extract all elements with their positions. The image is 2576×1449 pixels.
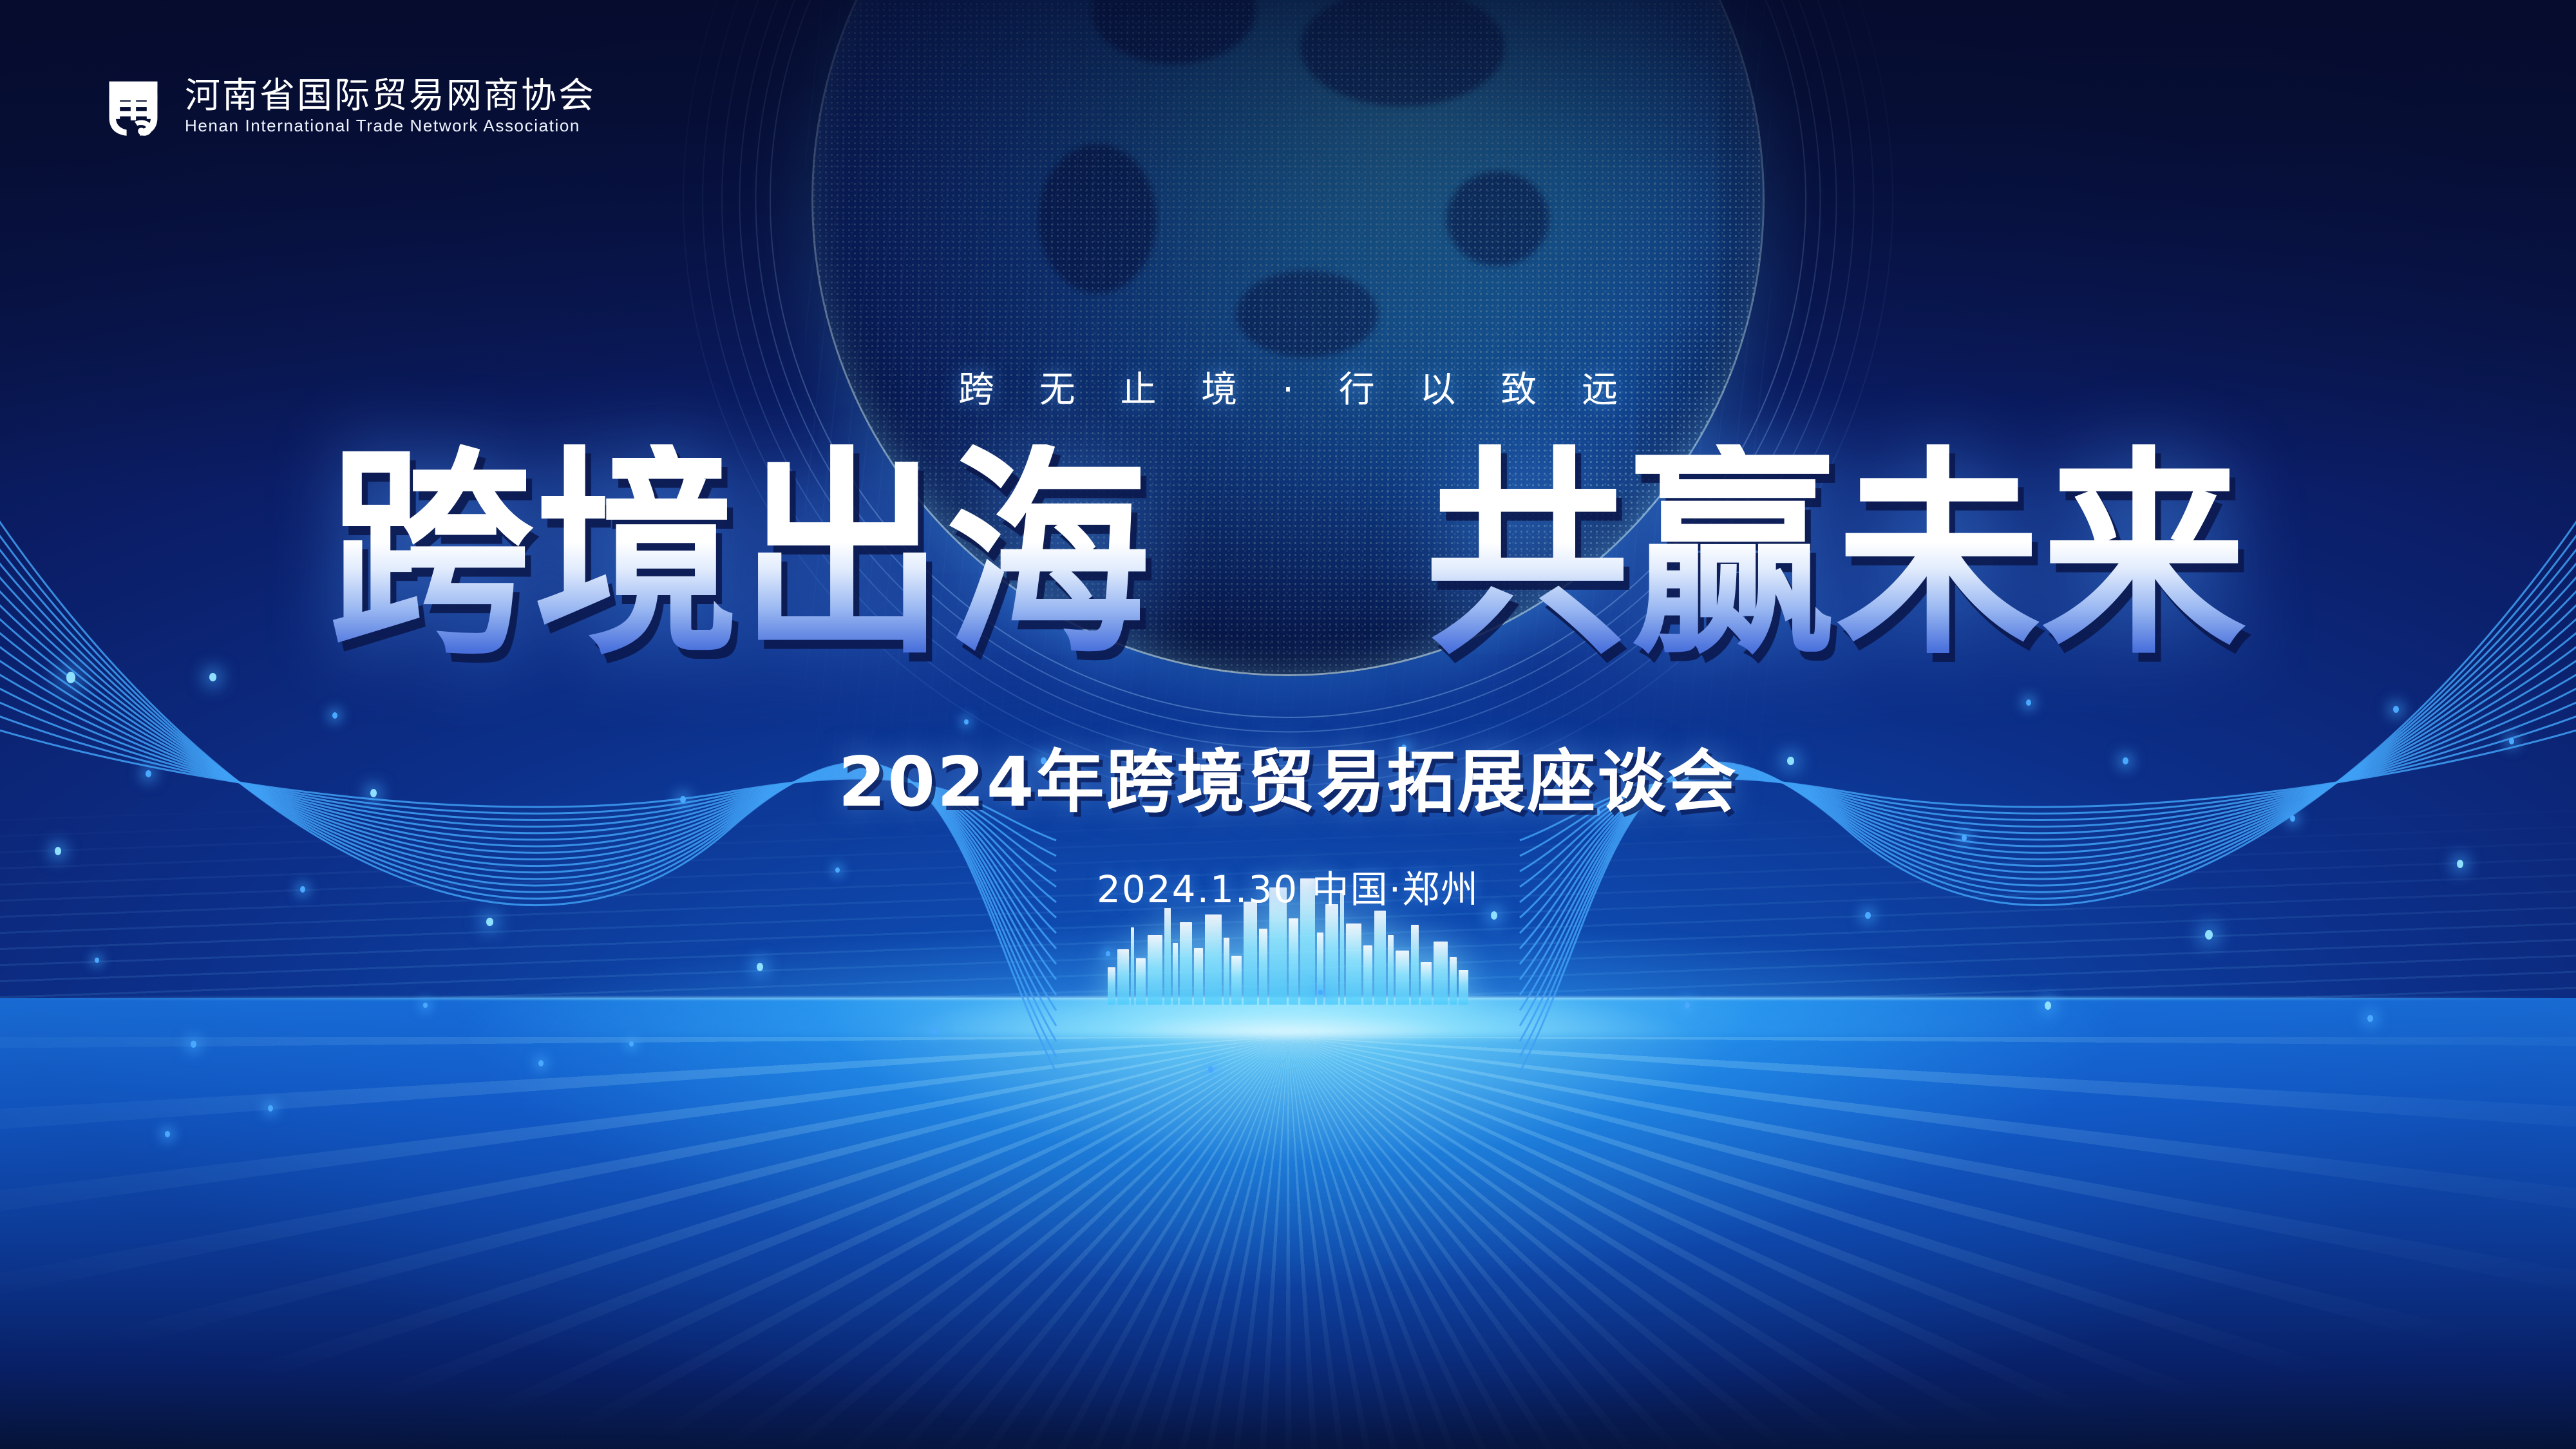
light-rays [0,1037,2576,1449]
particle-dot [191,1041,196,1048]
organization-name-cn: 河南省国际贸易网商协会 [185,78,596,113]
ground-plane [0,998,2576,1449]
particle-dot [2045,1001,2051,1010]
organization-logo[interactable]: 河南省国际贸易网商协会 Henan International Trade Ne… [100,72,596,139]
event-date-location: 2024.1.30 中国·郑州 [0,871,2576,908]
particle-dot [2457,860,2463,868]
particle-dot [1865,912,1871,919]
particle-dot [2205,930,2213,940]
seal-emblem-icon [100,72,167,139]
particle-dot [1491,911,1497,920]
particle-dot [486,918,493,927]
headline-part-1: 跨境出海 [328,444,1151,667]
particle-dot [55,847,61,855]
particle-dot [538,1060,544,1066]
particle-dot [423,1003,428,1009]
particle-dot [268,1105,273,1112]
particle-dot [964,719,969,725]
headline-part-2: 共赢未来 [1425,444,2248,667]
particle-dot [2393,706,2399,713]
particle-dot [209,673,216,682]
particle-dot [629,1041,634,1047]
particle-dot [931,1028,936,1034]
poster-canvas: 河南省国际贸易网商协会 Henan International Trade Ne… [0,0,2576,1449]
event-subtitle: 2024年跨境贸易拓展座谈会 [0,748,2576,817]
tagline: 跨 无 止 境 · 行 以 致 远 [0,361,2576,413]
organization-name-en: Henan International Trade Network Associ… [185,117,596,134]
particle-dot [1318,990,1323,996]
particle-dot [95,958,99,963]
organization-name-block: 河南省国际贸易网商协会 Henan International Trade Ne… [185,78,596,134]
particle-dot [2367,1015,2373,1022]
particle-dot [165,1131,170,1137]
particle-dot [332,712,337,719]
headline: 跨境出海 共赢未来 [0,444,2576,667]
particle-dot [1208,1066,1213,1073]
particle-dot [1106,951,1110,957]
particle-dot [757,963,763,971]
particle-dot [2509,738,2514,744]
particle-dot [1962,835,1967,841]
particle-dot [66,672,75,683]
particle-dot [2026,699,2031,706]
particle-dot [1685,1002,1690,1009]
